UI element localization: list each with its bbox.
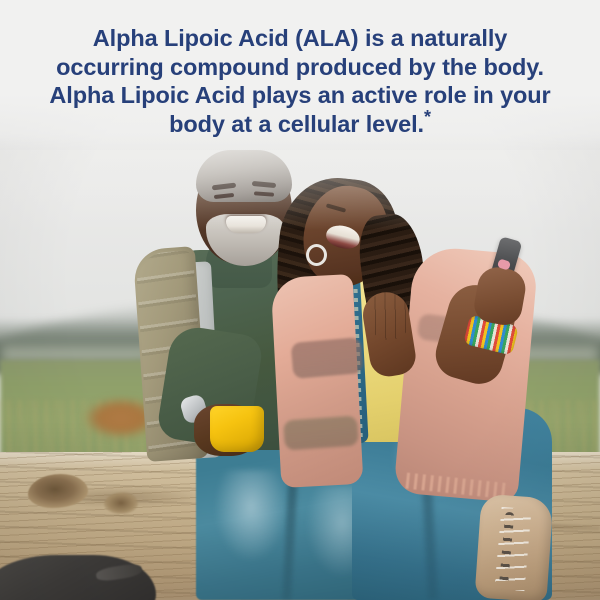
woman-shawl-left	[271, 274, 364, 488]
man-grey-hair	[196, 150, 292, 202]
headline-line-1: Alpha Lipoic Acid (ALA) is a naturally	[93, 25, 507, 51]
headline-line-3: Alpha Lipoic Acid plays an active role i…	[49, 82, 550, 108]
headline-banner: Alpha Lipoic Acid (ALA) is a naturally o…	[0, 0, 600, 152]
log-knot-secondary	[104, 492, 138, 514]
woman-hoop-earring	[306, 244, 327, 266]
headline-line-2: occurring compound produced by the body.	[56, 54, 544, 80]
man-smile	[226, 216, 266, 233]
headline-line-4: body at a cellular level.	[169, 111, 424, 137]
woman-shawl-stripe-2	[283, 415, 359, 450]
footnote-asterisk: *	[424, 107, 431, 127]
product-lifestyle-card: Alpha Lipoic Acid (ALA) is a naturally o…	[0, 0, 600, 600]
headline-text: Alpha Lipoic Acid (ALA) is a naturally o…	[45, 24, 555, 138]
man-jeans-highlight	[214, 470, 288, 562]
yellow-mug	[210, 406, 264, 452]
woman-shawl-stripe-1	[291, 337, 364, 379]
